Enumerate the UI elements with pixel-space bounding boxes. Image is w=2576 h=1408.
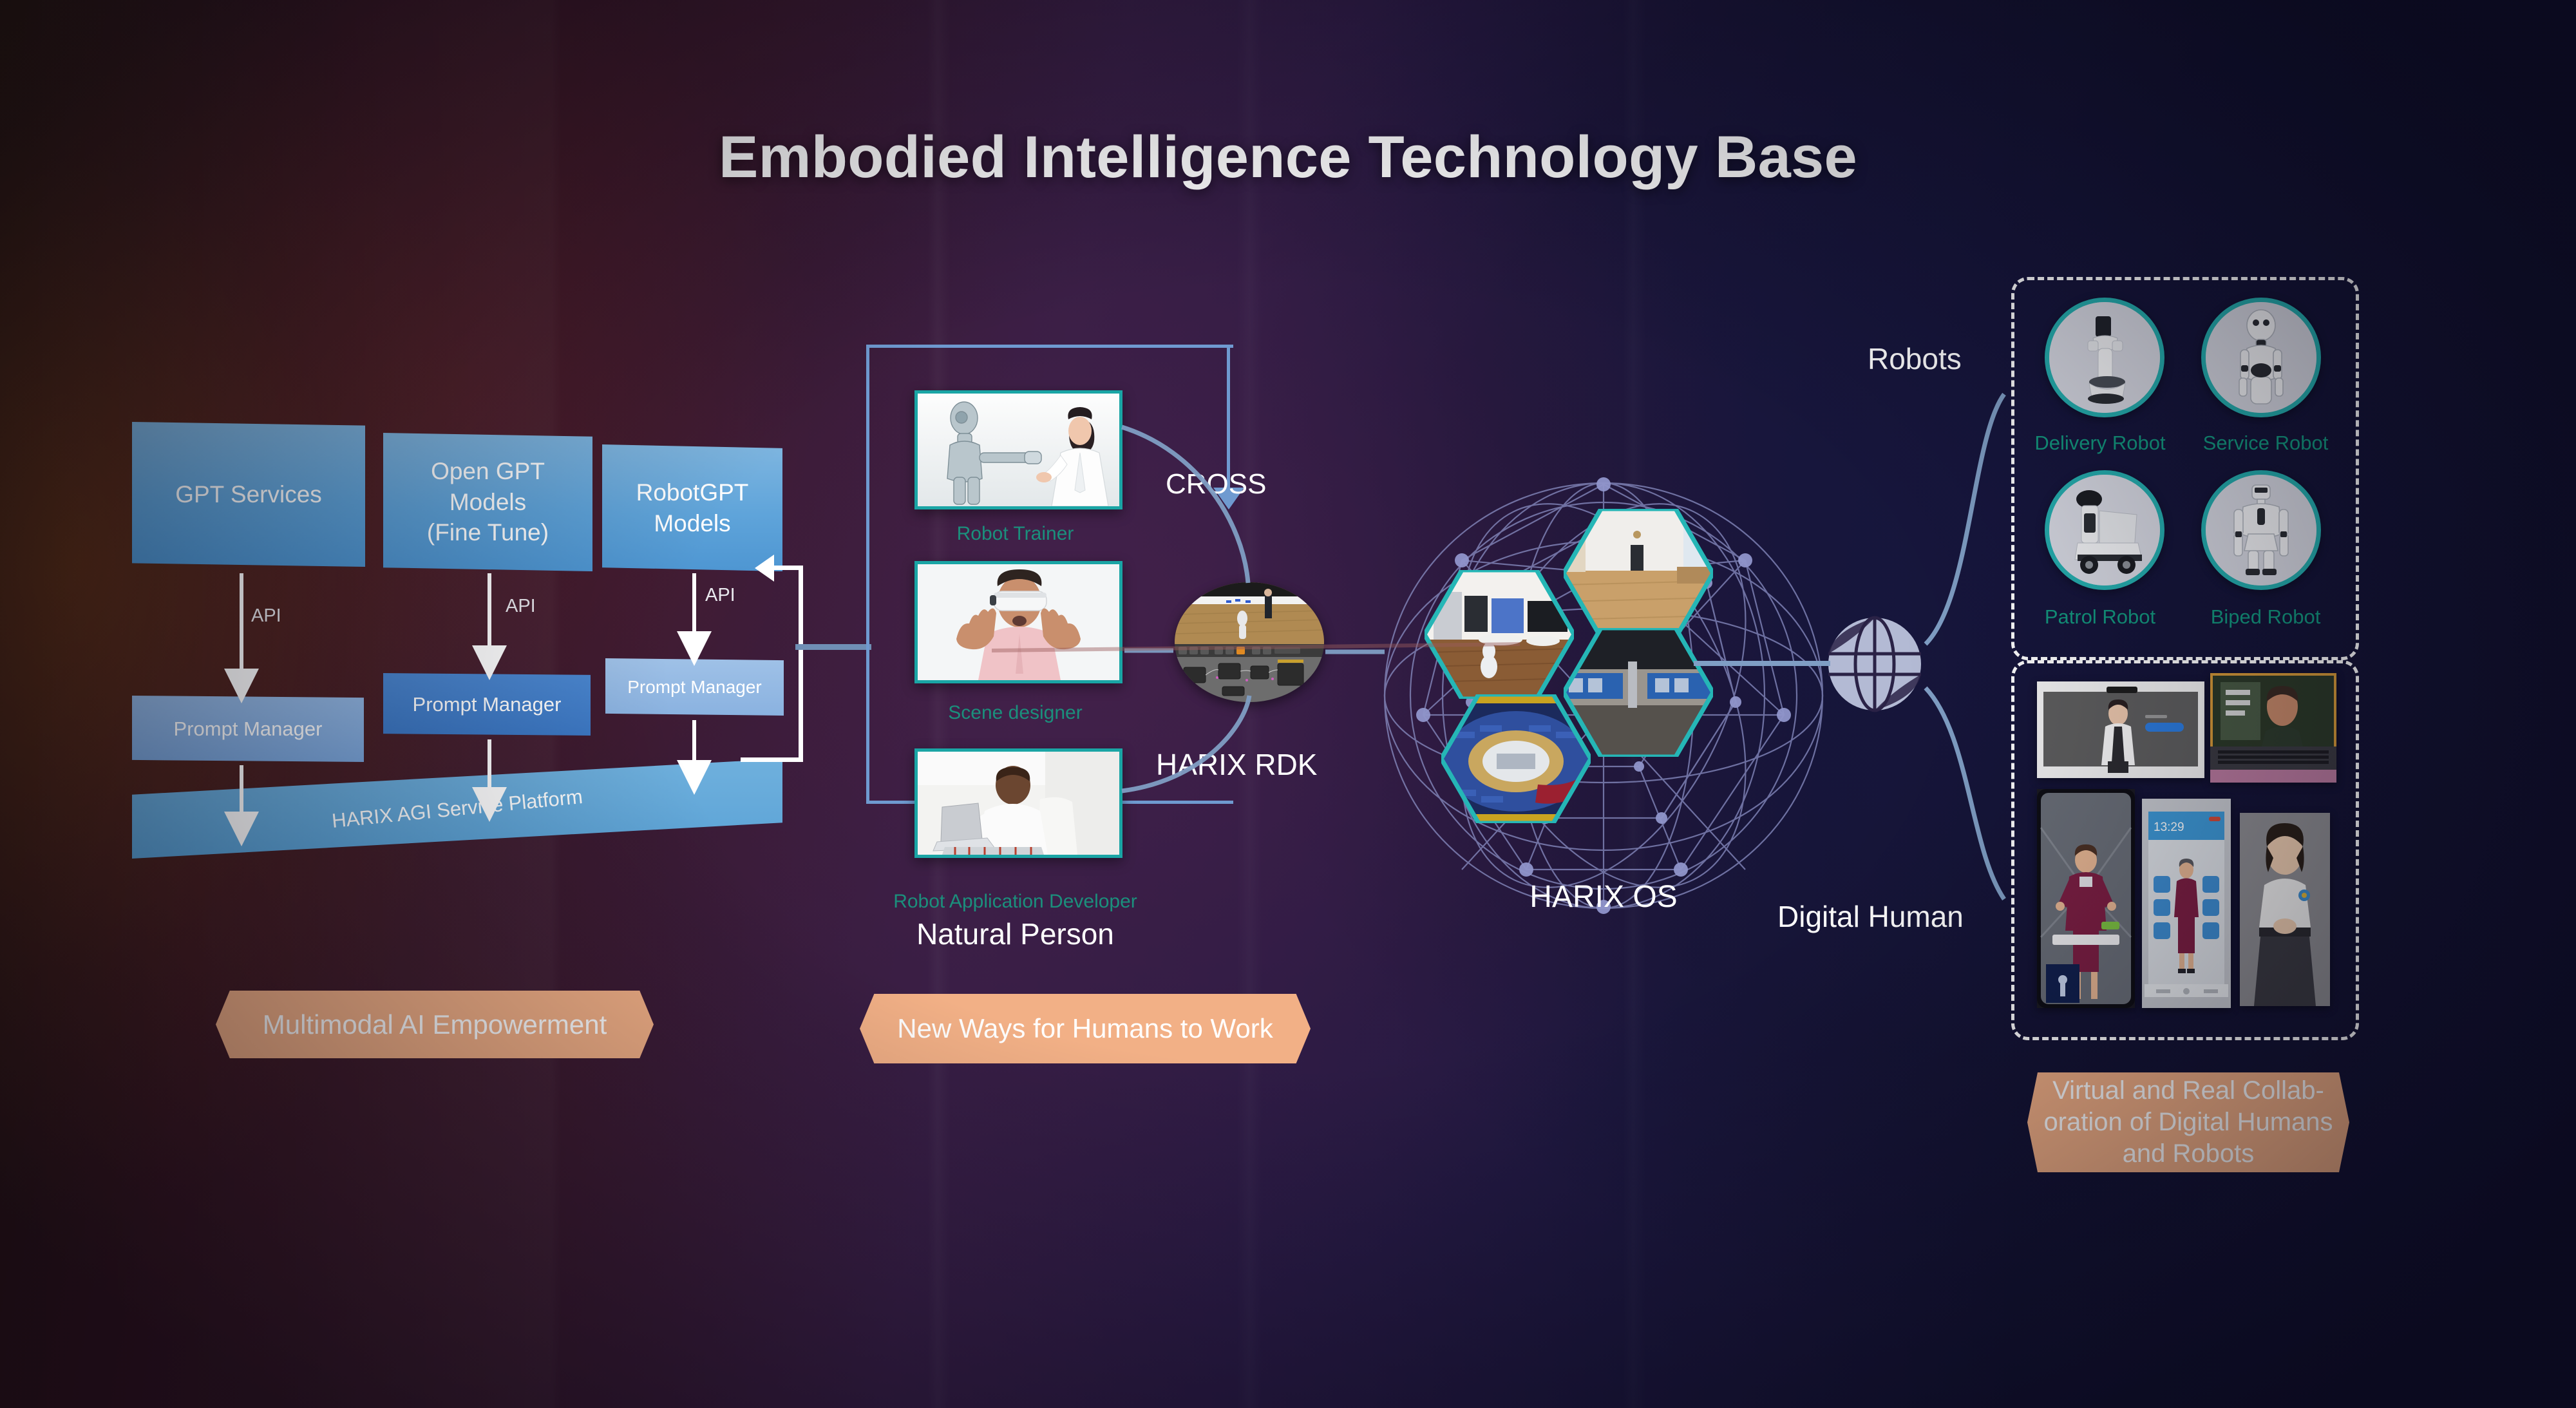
natural-person-group-label: Natural Person	[837, 917, 1193, 951]
person-card-robot-app-developer[interactable]	[914, 748, 1122, 858]
robot-label-delivery: Delivery Robot	[2005, 432, 2195, 455]
robot-app-developer-photo	[918, 752, 1119, 855]
feedback-loop-arrow-icon	[755, 555, 774, 582]
page-title: Embodied Intelligence Technology Base	[0, 124, 2576, 191]
scene-hex-arena[interactable]	[1441, 694, 1591, 826]
prompt-manager-box-2[interactable]: Prompt Manager	[383, 673, 591, 736]
connector-platform-to-people	[795, 644, 871, 650]
harix-rdk-label: HARIX RDK	[1156, 747, 1317, 782]
digital-human-shot-laptop[interactable]	[2210, 673, 2336, 783]
harix-os-label: HARIX OS	[1449, 879, 1758, 915]
banner-label: Virtual and Real Collab-oration of Digit…	[2043, 1075, 2333, 1169]
avatar-portrait-image	[2240, 813, 2330, 1006]
banner-multimodal-ai[interactable]: Multimodal AI Empowerment	[216, 991, 654, 1058]
robot-thumb-biped[interactable]	[2201, 470, 2321, 590]
scene-hex-room[interactable]	[1564, 509, 1713, 641]
digital-human-shot-phone[interactable]	[2037, 789, 2135, 1008]
prompt-manager-box-3[interactable]: Prompt Manager	[605, 658, 784, 716]
robot-label-patrol: Patrol Robot	[2005, 605, 2195, 629]
model-box-gpt-services[interactable]: GPT Services	[132, 422, 365, 567]
cross-label: CROSS	[1166, 468, 1266, 500]
feedback-loop-vertical-line	[799, 566, 803, 762]
digital-human-shot-avatar[interactable]	[2240, 813, 2330, 1006]
feedback-loop-bottom-line	[741, 757, 803, 762]
svg-text:13:29: 13:29	[2154, 821, 2184, 834]
delivery-robot-icon	[2049, 302, 2160, 413]
service-robot-icon	[2206, 302, 2316, 413]
api-label-2: API	[506, 596, 536, 617]
laptop-video-call-image	[2210, 673, 2336, 783]
slide-canvas: Embodied Intelligence Technology Base GP…	[0, 0, 2576, 1408]
globe-icon	[1826, 615, 1924, 713]
banner-label: Multimodal AI Empowerment	[263, 1009, 607, 1040]
curve-globe-to-digital-human	[1926, 688, 2004, 899]
robot-thumb-delivery[interactable]	[2045, 298, 2164, 417]
digital-human-section-label: Digital Human	[1777, 899, 1964, 934]
robot-trainer-photo	[918, 394, 1119, 506]
robot-thumb-patrol[interactable]	[2045, 470, 2164, 590]
biped-robot-icon	[2206, 475, 2316, 585]
robot-label-service: Service Robot	[2170, 432, 2361, 455]
model-box-label: GPT Services	[175, 479, 322, 509]
person-card-scene-designer[interactable]	[914, 561, 1122, 683]
feedback-loop-top-line	[773, 566, 803, 570]
phone-avatar-image	[2037, 789, 2135, 1008]
platform-bar-label: HARIX AGI Service Platform	[331, 785, 584, 833]
robot-thumb-service[interactable]	[2201, 298, 2321, 417]
curve-globe-to-robots	[1926, 394, 2004, 644]
model-box-label: RobotGPTModels	[636, 477, 749, 538]
scene-designer-photo	[918, 564, 1119, 680]
prompt-manager-label: Prompt Manager	[174, 718, 323, 741]
prompt-manager-label: Prompt Manager	[627, 677, 762, 698]
harix-rdk-thumbnail[interactable]	[1175, 582, 1324, 702]
patrol-robot-icon	[2049, 475, 2160, 585]
banner-virtual-real-collaboration[interactable]: Virtual and Real Collab-oration of Digit…	[2027, 1072, 2349, 1172]
api-label-1: API	[251, 605, 281, 627]
robot-label-biped: Biped Robot	[2170, 605, 2361, 629]
digital-human-shot-totem[interactable]: 13:29	[2142, 799, 2231, 1008]
person-card-caption-1: Robot Trainer	[914, 523, 1116, 545]
scene-hex-lobby[interactable]	[1425, 570, 1574, 702]
totem-kiosk-image: 13:29	[2142, 799, 2231, 1008]
kiosk-screen-image	[2037, 681, 2204, 778]
person-card-caption-3: Robot Application Developer	[837, 891, 1193, 913]
person-card-caption-2: Scene designer	[914, 702, 1116, 724]
prompt-manager-label: Prompt Manager	[413, 693, 562, 716]
rdk-editor-screenshot	[1175, 582, 1324, 702]
model-box-robotgpt-models[interactable]: RobotGPTModels	[602, 444, 782, 571]
banner-label: New Ways for Humans to Work	[897, 1013, 1273, 1044]
api-label-3: API	[705, 585, 735, 606]
model-box-label: Open GPTModels(Fine Tune)	[427, 456, 549, 547]
banner-new-ways-work[interactable]: New Ways for Humans to Work	[860, 994, 1311, 1063]
harix-agi-service-platform-bar[interactable]: HARIX AGI Service Platform	[132, 759, 782, 859]
digital-human-shot-kiosk[interactable]	[2037, 681, 2204, 778]
prompt-manager-box-1[interactable]: Prompt Manager	[132, 696, 364, 762]
person-card-robot-trainer[interactable]	[914, 390, 1122, 509]
robots-section-label: Robots	[1868, 341, 1962, 376]
model-box-open-gpt-models[interactable]: Open GPTModels(Fine Tune)	[383, 433, 592, 571]
